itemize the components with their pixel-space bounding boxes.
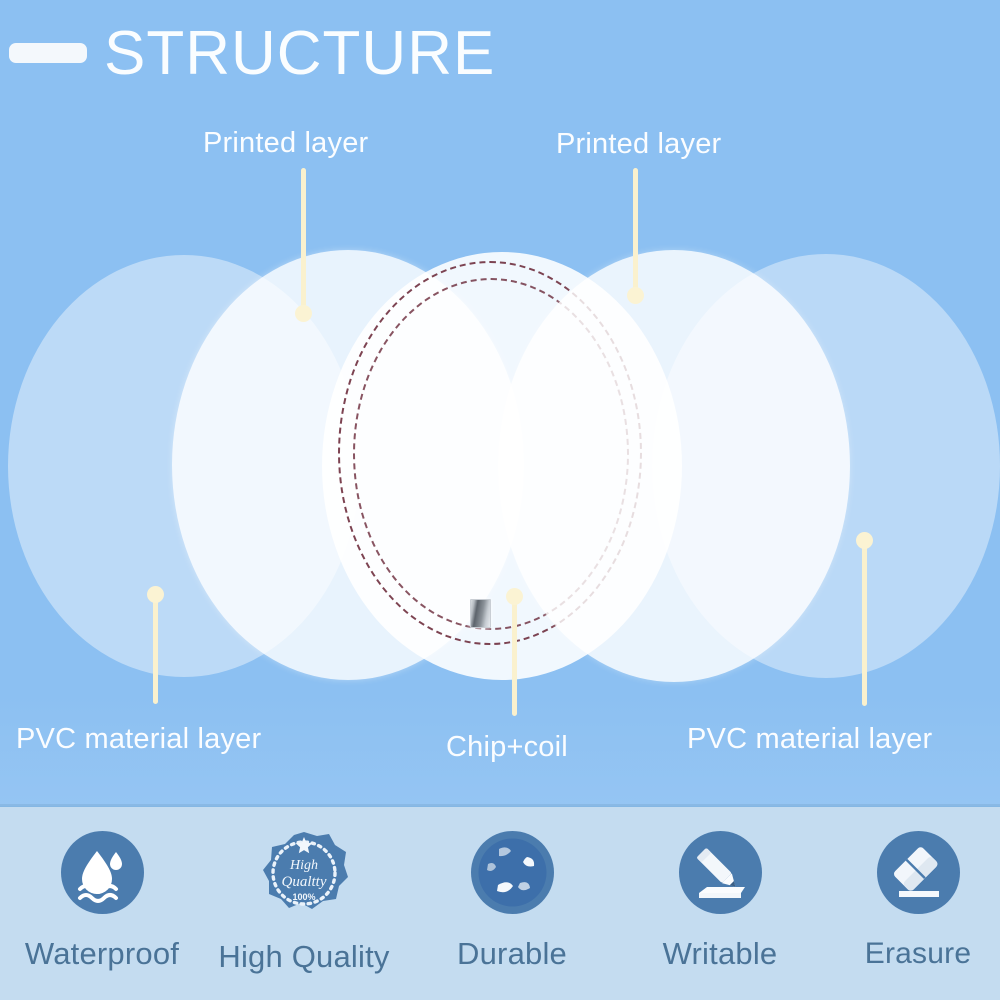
features-panel: Waterproof High Qualtty 100% High Qualit… [0,807,1000,1000]
badge-percent: 100% [292,892,315,902]
feature-label: Durable [412,936,612,972]
layer-printed-right [498,250,850,682]
pointer-dot [856,532,873,549]
eraser-icon [877,831,960,914]
feature-waterproof[interactable]: Waterproof [2,831,202,972]
pointer-dot [506,588,523,605]
globe-icon [471,831,554,914]
pointer-stem [862,538,867,706]
pencil-icon [679,831,762,914]
dash-bar-icon [9,43,87,63]
chip-icon [470,599,491,628]
pointer-dot [627,287,644,304]
label-pvc-layer-right: PVC material layer [687,722,932,756]
feature-label: Writable [620,936,820,972]
water-drop-icon [61,831,144,914]
pointer-stem [153,592,158,704]
feature-erasure[interactable]: Erasure [818,831,1000,972]
label-printed-layer-right: Printed layer [556,127,721,161]
feature-writable[interactable]: Writable [620,831,820,972]
badge-line1: High [289,858,318,873]
label-pvc-layer-left: PVC material layer [16,722,261,756]
diagram-panel: STRUCTURE [0,0,1000,806]
feature-high-quality[interactable]: High Qualtty 100% High Quality [204,831,404,975]
pointer-stem [301,168,306,316]
page-title: STRUCTURE [104,18,495,90]
feature-label: Waterproof [2,936,202,972]
pointer-dot [147,586,164,603]
feature-label: Erasure [818,936,1000,972]
pointer-stem [512,594,517,716]
quality-badge-icon: High Qualtty 100% [260,829,348,917]
structure-infographic: STRUCTURE [0,0,1000,1000]
label-printed-layer-left: Printed layer [203,126,368,160]
feature-durable[interactable]: Durable [412,831,612,972]
badge-line2: Qualtty [282,874,327,890]
pointer-stem [633,168,638,298]
label-chip-coil: Chip+coil [446,730,568,764]
feature-label: High Quality [204,939,404,975]
header: STRUCTURE [0,0,1000,105]
pointer-dot [295,305,312,322]
